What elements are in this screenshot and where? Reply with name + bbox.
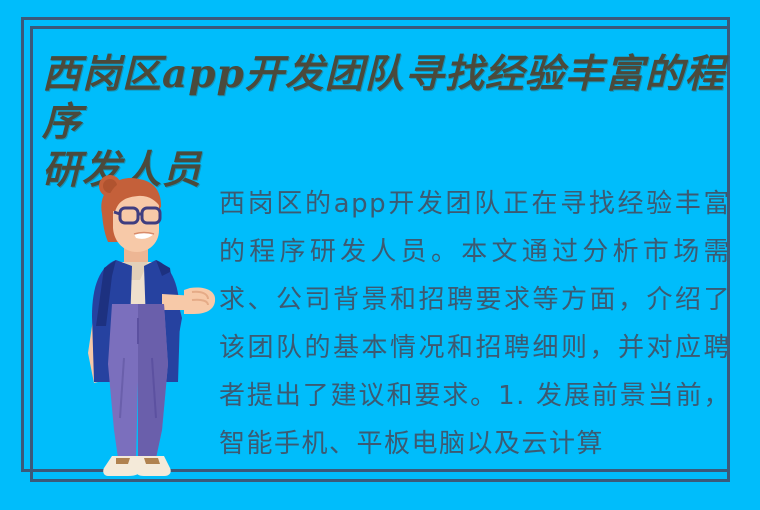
poster-canvas: 西岗区app开发团队寻找经验丰富的程序 研发人员 (0, 0, 760, 510)
right-arm-group (158, 272, 215, 340)
person-illustration (58, 168, 218, 480)
shoes (103, 456, 171, 476)
article-body: 西岗区的app开发团队正在寻找经验丰富的程序研发人员。本文通过分析市场需求、公司… (219, 180, 731, 470)
